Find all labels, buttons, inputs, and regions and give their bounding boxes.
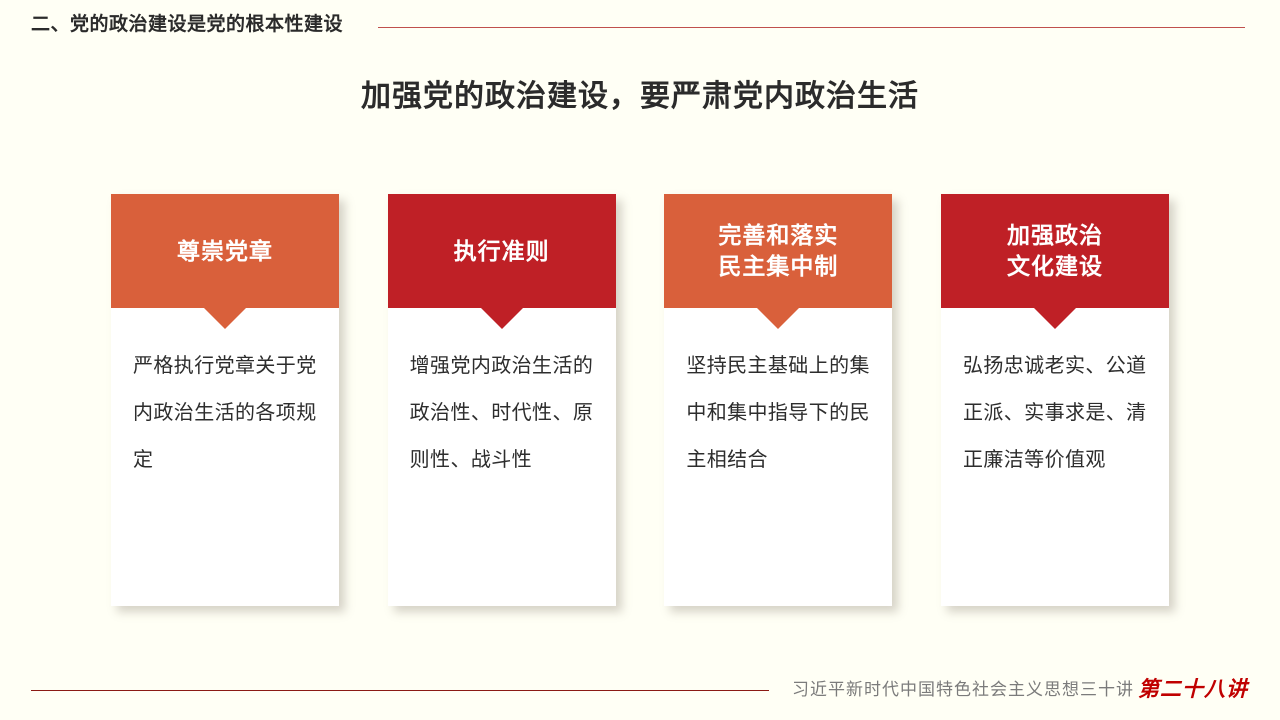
card-header-label: 加强政治 文化建设	[999, 220, 1111, 282]
card-body: 增强党内政治生活的政治性、时代性、原则性、战斗性	[388, 308, 616, 606]
card-header-label: 完善和落实 民主集中制	[710, 220, 846, 282]
down-triangle-icon	[204, 308, 246, 329]
card-body-text: 坚持民主基础上的集中和集中指导下的民主相结合	[686, 343, 872, 484]
card-zhengzhi-wenhua[interactable]: 加强政治 文化建设 弘扬忠诚老实、公道正派、实事求是、清正廉洁等价值观	[941, 194, 1169, 606]
card-minzhu-jizhongzhi[interactable]: 完善和落实 民主集中制 坚持民主基础上的集中和集中指导下的民主相结合	[664, 194, 892, 606]
down-triangle-icon	[757, 308, 799, 329]
down-triangle-icon	[1034, 308, 1076, 329]
section-heading: 二、党的政治建设是党的根本性建设	[31, 12, 343, 38]
card-body-text: 弘扬忠诚老实、公道正派、实事求是、清正廉洁等价值观	[963, 343, 1149, 484]
footer-series-title: 习近平新时代中国特色社会主义思想三十讲	[792, 677, 1134, 703]
down-triangle-icon	[481, 308, 523, 329]
card-header-label: 执行准则	[446, 236, 558, 267]
page-title: 加强党的政治建设，要严肃党内政治生活	[0, 76, 1280, 118]
card-zunchong-dangzhang[interactable]: 尊崇党章 严格执行党章关于党内政治生活的各项规定	[111, 194, 339, 606]
card-header: 加强政治 文化建设	[941, 194, 1169, 308]
card-header: 完善和落实 民主集中制	[664, 194, 892, 308]
card-body: 坚持民主基础上的集中和集中指导下的民主相结合	[664, 308, 892, 606]
card-header-label: 尊崇党章	[169, 236, 281, 267]
card-body-text: 增强党内政治生活的政治性、时代性、原则性、战斗性	[410, 343, 596, 484]
card-row: 尊崇党章 严格执行党章关于党内政治生活的各项规定 执行准则 增强党内政治生活的政…	[111, 194, 1169, 606]
slide-canvas: 二、党的政治建设是党的根本性建设 加强党的政治建设，要严肃党内政治生活 尊崇党章…	[0, 0, 1280, 720]
card-body-text: 严格执行党章关于党内政治生活的各项规定	[133, 343, 319, 484]
slide-topbar: 二、党的政治建设是党的根本性建设	[0, 0, 1280, 56]
card-body: 严格执行党章关于党内政治生活的各项规定	[111, 308, 339, 606]
topbar-divider-line	[378, 27, 1245, 28]
card-zhixing-zhunze[interactable]: 执行准则 增强党内政治生活的政治性、时代性、原则性、战斗性	[388, 194, 616, 606]
footer-divider-line	[31, 690, 769, 691]
footer-lecture-number: 第二十八讲	[1138, 674, 1248, 704]
card-header: 尊崇党章	[111, 194, 339, 308]
card-body: 弘扬忠诚老实、公道正派、实事求是、清正廉洁等价值观	[941, 308, 1169, 606]
card-header: 执行准则	[388, 194, 616, 308]
